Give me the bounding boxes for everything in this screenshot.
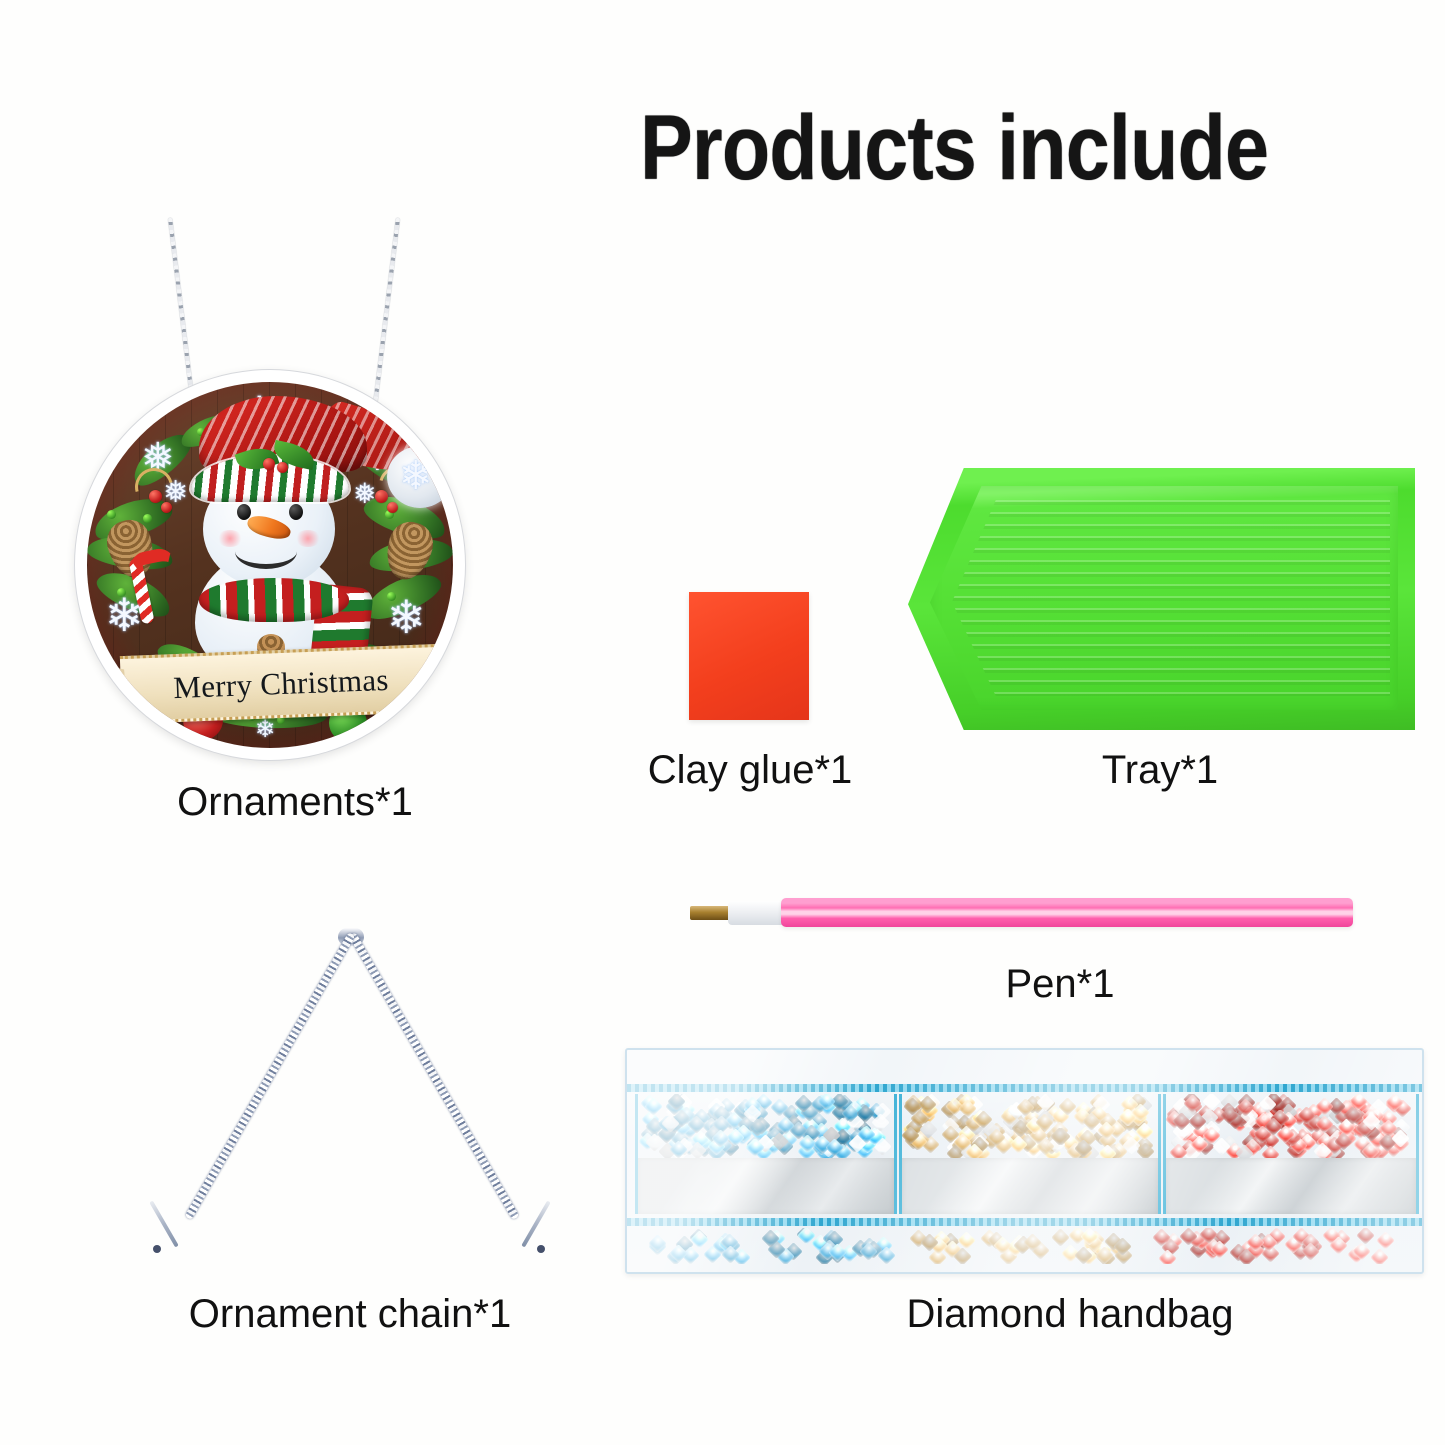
rhinestone [1371,1248,1389,1264]
ornament-artwork: ❄ ❅ ❄ ❄ ❄ ❅ ❅ ❄ [87,382,453,748]
foil-label-gold [902,1158,1158,1214]
gold-rhinestones [902,1094,1158,1160]
bag-compartment-gold [899,1094,1161,1214]
diamond-handbag-icon [625,1048,1424,1274]
pen-body-icon [781,898,1353,927]
ornament-banner: Merry Christmas [120,644,442,724]
ornament-disc: ❄ ❅ ❄ ❄ ❄ ❅ ❅ ❄ [75,370,465,760]
rhinestone [1356,1228,1374,1245]
red-rhinestones [1166,1094,1416,1160]
page-title: Products include [640,96,1319,201]
bag-bottom-stones [635,1228,1414,1264]
chain-tip-left [153,1245,161,1253]
chain-tip-right [537,1245,545,1253]
ornament-illustration: ❄ ❅ ❄ ❄ ❄ ❅ ❅ ❄ [60,190,530,770]
ornament-chain-caption: Ornament chain*1 [110,1292,590,1337]
rhinestone [1376,1231,1394,1249]
diamond-handbag-caption: Diamond handbag [770,1292,1370,1337]
chain-end-left [149,1200,178,1247]
tray-grooves [952,500,1390,696]
foil-label-blue [638,1158,894,1214]
bag-zip-bottom [627,1218,1422,1226]
rhinestone [1051,1229,1069,1247]
bag-compartment-blue [635,1094,897,1214]
ornament-chain-icon [140,920,560,1270]
blue-rhinestones [638,1094,894,1160]
bag-zip-top [627,1084,1422,1092]
ornaments-caption: Ornaments*1 [60,780,530,825]
bag-compartment-red [1163,1094,1419,1214]
clay-glue-caption: Clay glue*1 [620,748,880,793]
snowman-scarf [199,578,349,622]
tray-caption: Tray*1 [1000,748,1320,793]
chain-end-right [521,1200,550,1247]
clay-glue-icon [689,592,809,720]
pen-caption: Pen*1 [880,962,1240,1007]
ornament-banner-text: Merry Christmas [173,662,390,706]
pen-tip-icon [690,906,732,920]
pen-ferrule [728,901,786,925]
product-include-infographic: Products include [0,0,1445,1445]
snowman-mouth [235,534,297,569]
chain-arm-left [349,932,520,1220]
foil-label-red [1166,1158,1416,1214]
chain-arm-right [185,932,356,1220]
snowman-hat-pompom: ❄ [387,446,453,508]
